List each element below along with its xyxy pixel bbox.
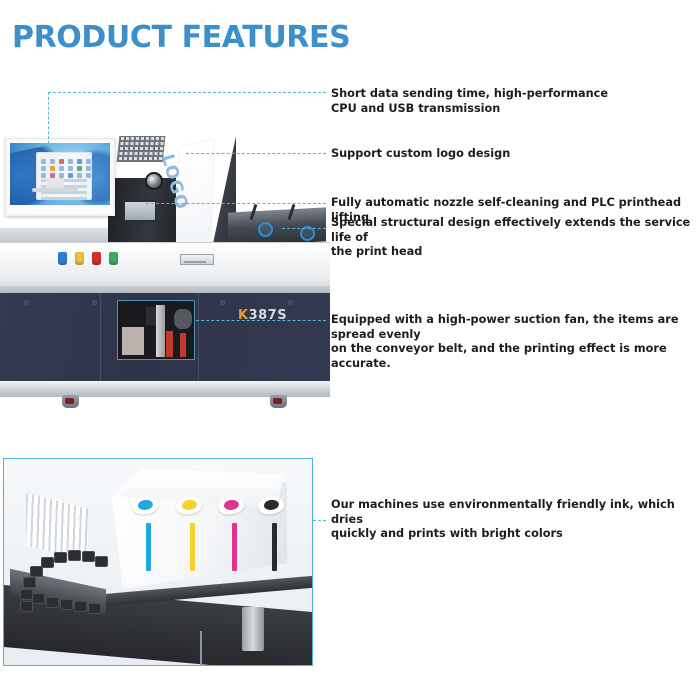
ink-system-photo-bottom <box>3 458 313 666</box>
leader-line-custom-logo <box>186 153 326 154</box>
internal-panel <box>122 327 144 355</box>
leader-line-cpu-usb <box>48 92 326 93</box>
callout-print-head-life: Special structural design effectively ex… <box>331 216 700 260</box>
cabinet-seam-left <box>100 293 101 381</box>
callout-custom-logo: Support custom logo design <box>331 147 510 162</box>
product-features-page: PRODUCT FEATURES LOGO <box>0 0 700 700</box>
internal-red-part-right <box>180 333 186 357</box>
page-title: PRODUCT FEATURES <box>12 20 350 55</box>
callout-eco-ink: Our machines use environmentally friendl… <box>331 498 700 542</box>
monitor-screen <box>10 143 110 205</box>
pneumatic-cylinder <box>242 607 264 651</box>
cabinet-screw <box>288 300 293 305</box>
start-menu-app-grid <box>41 159 93 178</box>
operator-monitor <box>5 138 115 216</box>
cable-drag-chain <box>18 547 110 617</box>
blue-indicator-button <box>58 252 67 265</box>
green-start-button <box>109 252 118 265</box>
black-ink-tank <box>272 523 277 571</box>
machine-upper-shell <box>0 242 330 290</box>
internal-red-part-left <box>166 331 173 357</box>
cyan-ink-tank <box>146 523 151 571</box>
adjust-knob-icon <box>145 172 163 190</box>
internal-duct <box>156 305 165 357</box>
callout-cpu-usb: Short data sending time, high-performanc… <box>331 87 608 116</box>
start-menu-panel <box>36 152 92 200</box>
callout-suction-fan: Equipped with a high-power suction fan, … <box>331 313 700 371</box>
monitor-foot <box>32 188 78 192</box>
cabinet-inspection-window <box>117 300 195 360</box>
caster-wheel <box>270 395 287 408</box>
highlight-ring-nozzle <box>258 222 273 237</box>
leader-line-nozzle-cleaning <box>146 203 326 204</box>
mini-display-panel <box>180 254 214 265</box>
red-emergency-button <box>92 252 101 265</box>
magenta-ink-tank <box>232 523 237 571</box>
cabinet-seam-right <box>198 293 199 381</box>
yellow-indicator-button <box>75 252 84 265</box>
leader-line-suction-fan <box>196 320 326 321</box>
leader-line-print-head-life <box>282 228 326 229</box>
internal-fan <box>174 309 192 329</box>
caster-wheel <box>62 395 79 408</box>
leader-line-cpu-usb-vertical <box>48 92 49 144</box>
cabinet-screw <box>92 300 97 305</box>
support-leg <box>200 631 202 665</box>
cabinet-screw <box>220 300 225 305</box>
machine-photo-top: LOGO <box>0 100 330 430</box>
yellow-ink-tank <box>190 523 195 571</box>
cabinet-screw <box>24 300 29 305</box>
